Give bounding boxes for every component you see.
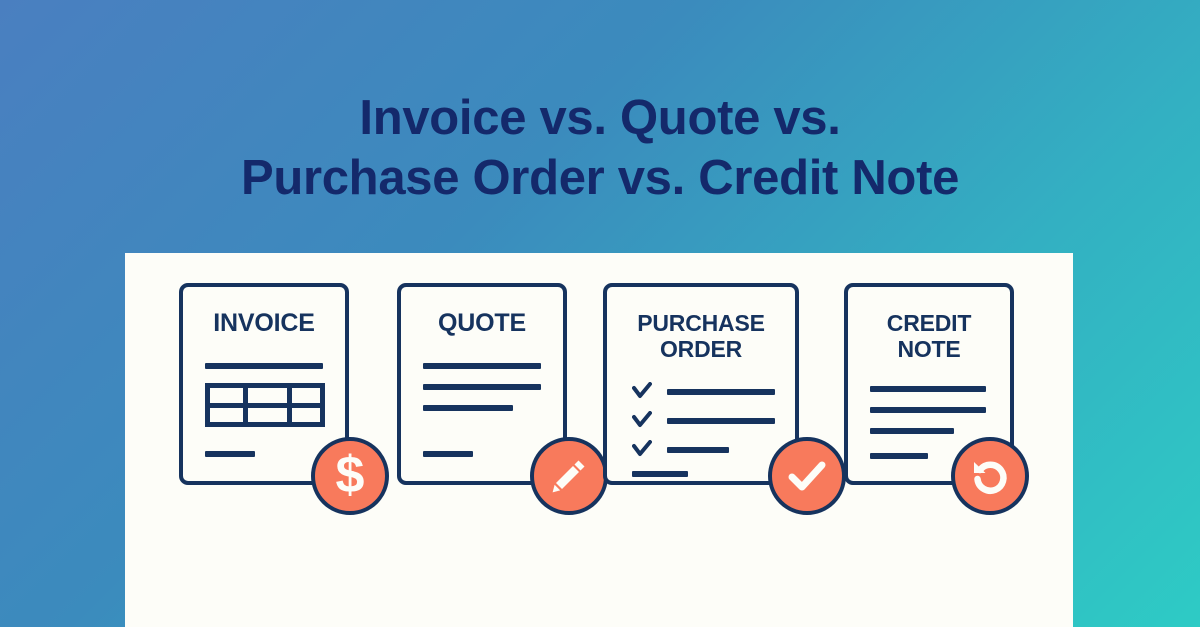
invoice-grid-col-divider-2 [287, 388, 292, 422]
checkmark-icon-3 [632, 440, 652, 460]
credit-note-rule-1 [870, 386, 986, 392]
po-rule-3 [667, 447, 729, 453]
invoice-bottom-rule [205, 451, 255, 457]
badge-invoice[interactable]: $ [311, 437, 389, 515]
card-title-credit-note-line-1: CREDIT [887, 310, 971, 336]
invoice-top-rule [205, 363, 323, 369]
checkmark-icon [784, 453, 830, 499]
page-title: Invoice vs. Quote vs. Purchase Order vs.… [0, 88, 1200, 208]
card-title-quote: QUOTE [401, 310, 563, 336]
page-title-line-1: Invoice vs. Quote vs. [0, 88, 1200, 148]
dollar-icon: $ [336, 449, 365, 501]
card-title-credit-note-line-2: NOTE [897, 336, 960, 362]
card-title-credit-note: CREDIT NOTE [848, 310, 1010, 362]
quote-rule-3 [423, 405, 513, 411]
invoice-table-grid [205, 383, 325, 427]
poster-canvas: Invoice vs. Quote vs. Purchase Order vs.… [0, 0, 1200, 627]
quote-rule-4 [423, 451, 473, 457]
checkmark-icon-1 [632, 382, 652, 402]
quote-rule-2 [423, 384, 541, 390]
po-rule-2 [667, 418, 775, 424]
card-title-purchase-order-line-1: PURCHASE [637, 310, 764, 336]
credit-note-rule-4 [870, 453, 928, 459]
document-card-row: INVOICE $ QUOTE [125, 253, 1073, 627]
credit-note-rule-2 [870, 407, 986, 413]
invoice-grid-row-divider [210, 403, 320, 408]
page-title-line-2: Purchase Order vs. Credit Note [0, 148, 1200, 208]
pencil-icon [548, 455, 590, 497]
quote-rule-1 [423, 363, 541, 369]
invoice-grid-col-divider-1 [243, 388, 248, 422]
po-rule-4 [632, 471, 688, 477]
undo-arrow-icon [967, 453, 1013, 499]
card-title-purchase-order: PURCHASE ORDER [607, 310, 795, 362]
badge-credit-note[interactable] [951, 437, 1029, 515]
card-title-purchase-order-line-2: ORDER [660, 336, 742, 362]
po-rule-1 [667, 389, 775, 395]
badge-quote[interactable] [530, 437, 608, 515]
card-title-invoice: INVOICE [183, 310, 345, 336]
document-card-purchase-order[interactable]: PURCHASE ORDER [603, 283, 799, 485]
checkmark-icon-2 [632, 411, 652, 431]
credit-note-rule-3 [870, 428, 954, 434]
badge-purchase-order[interactable] [768, 437, 846, 515]
